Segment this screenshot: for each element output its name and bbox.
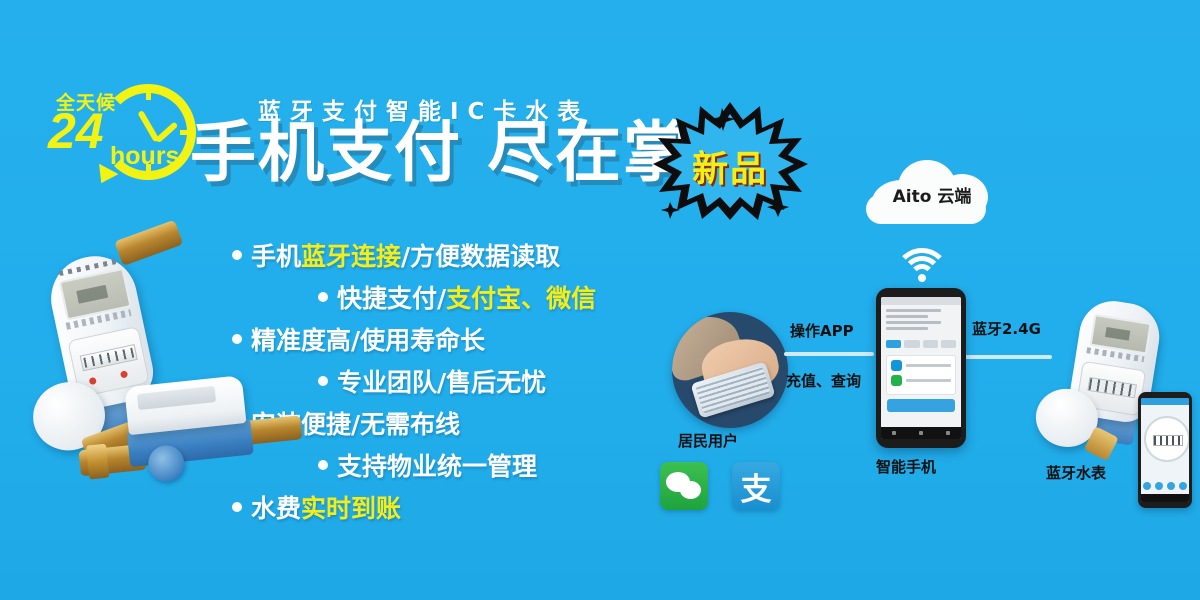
badge-number: 24 [48, 106, 104, 156]
list-item: 手机蓝牙连接/方便数据读取 [232, 234, 702, 276]
feature-plain: 专业团队/售后无忧 [337, 368, 546, 397]
feature-plain: 支持物业统一管理 [337, 452, 537, 481]
link-recharge-label: 充值、查询 [786, 370, 861, 391]
list-item: 水费实时到账 [232, 486, 702, 528]
new-product-label: 新品 [650, 140, 810, 192]
list-item: 快捷支付/支付宝、微信 [232, 276, 702, 318]
meter-reading-phone [1138, 392, 1192, 508]
link-bluetooth-label: 蓝牙2.4G [972, 318, 1041, 339]
alipay-option-icon [891, 360, 902, 371]
feature-plain: /方便数据读取 [401, 242, 560, 271]
user-label: 居民用户 [678, 430, 738, 451]
feature-plain: 水费 [251, 494, 301, 523]
connector-line-right [962, 355, 1052, 359]
all-day-24h-badge: 全天候 24 hours [48, 82, 208, 187]
feature-text-3: 专业团队/售后无忧 [337, 363, 546, 399]
link-app-label: 操作APP [790, 320, 854, 341]
cloud-server: Aito 云端 [862, 158, 1002, 226]
bullet-dot-icon [318, 376, 328, 386]
feature-text-2: 精准度高/使用寿命长 [251, 321, 485, 357]
meter-dial-graphic [1144, 416, 1189, 462]
bullet-dot-icon [232, 334, 242, 344]
confirm-payment-button[interactable] [887, 399, 955, 412]
feature-highlight: 蓝牙连接 [301, 242, 401, 271]
resident-user-photo [672, 312, 788, 428]
wechat-option-icon [891, 375, 902, 386]
promo-banner: 全天候 24 hours 蓝牙支付智能IC卡水表 手机支付 尽在掌握 新品 手机… [0, 0, 1200, 600]
smartphone-device [876, 288, 966, 448]
feature-text-1: 快捷支付/支付宝、微信 [337, 279, 596, 315]
payment-icons: 支 [660, 462, 780, 510]
meter-label: 蓝牙水表 [1046, 462, 1106, 483]
feature-plain: 快捷支付/ [337, 284, 446, 313]
phone-label: 智能手机 [876, 456, 936, 477]
connector-line-left [784, 352, 874, 356]
cloud-label: Aito 云端 [862, 182, 1002, 207]
bullet-dot-icon [232, 502, 242, 512]
wifi-icon [898, 248, 946, 282]
list-item: 精准度高/使用寿命长 [232, 318, 702, 360]
feature-plain: 精准度高/使用寿命长 [251, 326, 485, 355]
feature-text-0: 手机蓝牙连接/方便数据读取 [251, 237, 560, 273]
wechat-pay-icon[interactable] [660, 462, 708, 510]
bullet-dot-icon [232, 250, 242, 260]
bullet-dot-icon [318, 292, 328, 302]
valve-water-meter-product [82, 369, 313, 511]
badge-unit: hours [110, 144, 179, 169]
feature-plain: 手机 [251, 242, 301, 271]
feature-highlight: 实时到账 [301, 494, 401, 523]
bullet-dot-icon [318, 460, 328, 470]
new-product-badge: 新品 [650, 98, 810, 223]
feature-highlight: 支付宝、微信 [446, 284, 596, 313]
feature-text-6: 水费实时到账 [251, 489, 401, 525]
alipay-icon[interactable]: 支 [732, 462, 780, 510]
feature-text-5: 支持物业统一管理 [337, 447, 537, 483]
alipay-glyph: 支 [732, 462, 780, 510]
